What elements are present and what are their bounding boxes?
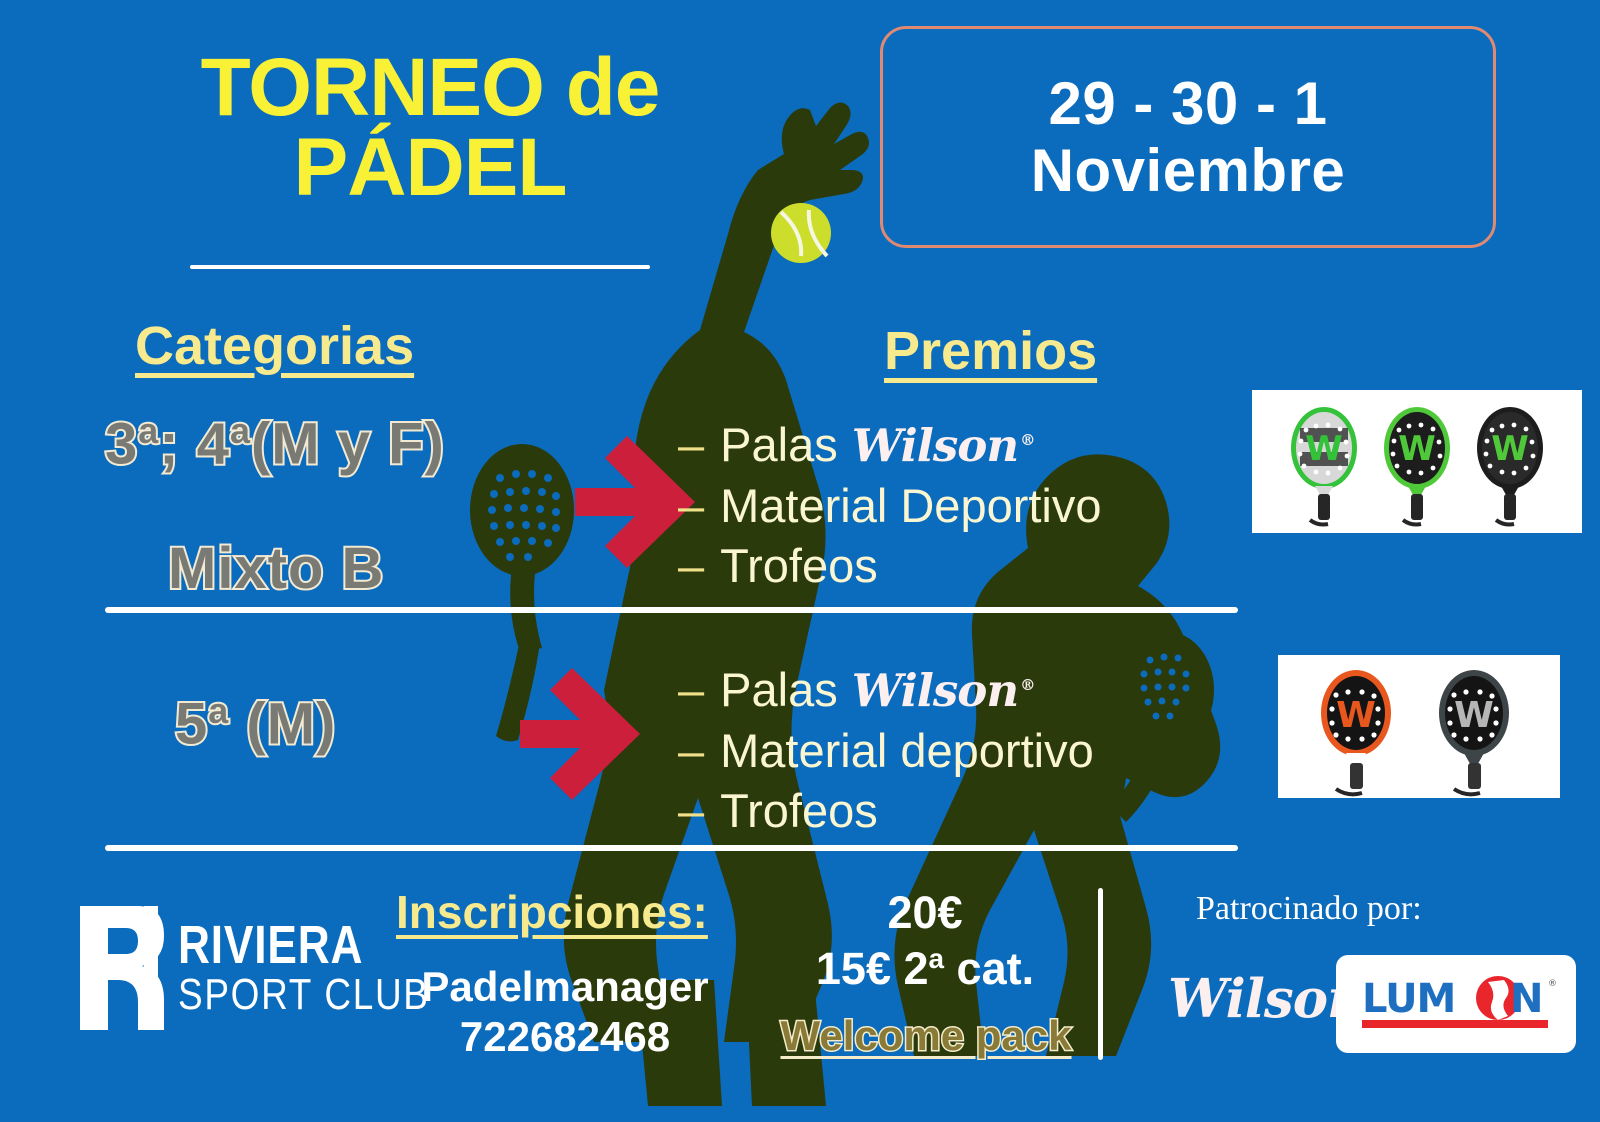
tennis-ball-icon bbox=[771, 203, 831, 263]
title-underline-rule bbox=[190, 265, 650, 269]
date-month: Noviembre bbox=[1031, 137, 1346, 204]
cat-5-tail: (M) bbox=[229, 691, 336, 756]
svg-text:W: W bbox=[1305, 429, 1343, 469]
cat-3-ordinal: a bbox=[138, 410, 159, 451]
prize-label: Trofeos bbox=[720, 781, 878, 842]
poster-canvas: TORNEO de PÁDEL 29 - 30 - 1 Noviembre Ca… bbox=[0, 0, 1600, 1122]
cat-3-4-tail: (M y F) bbox=[251, 411, 445, 476]
price-ordinal: a bbox=[929, 943, 945, 974]
prize-row: – Trofeos bbox=[678, 536, 1102, 597]
sponsors-heading: Patrocinado por: bbox=[1196, 890, 1422, 928]
category-item-5: 5a (M) bbox=[175, 690, 336, 757]
bullet-dash: – bbox=[678, 660, 704, 721]
prize-row: – Material Deportivo bbox=[678, 476, 1102, 537]
price-block: 20€ 15€ 2a cat. bbox=[760, 885, 1090, 998]
wilson-text: Wilson bbox=[852, 664, 1018, 717]
price-second-category: 15€ 2a cat. bbox=[760, 941, 1090, 997]
svg-text:W: W bbox=[1398, 429, 1436, 469]
date-text: 29 - 30 - 1 Noviembre bbox=[1031, 70, 1346, 204]
divider-lower bbox=[105, 845, 1238, 851]
title-line-2: PÁDEL bbox=[120, 128, 740, 208]
svg-text:®: ® bbox=[1548, 979, 1557, 989]
svg-text:LUM: LUM bbox=[1362, 976, 1455, 1022]
riviera-subtitle: SPORT CLUB bbox=[178, 975, 430, 1015]
cat-5-ordinal: a bbox=[208, 690, 229, 731]
bullet-dash: – bbox=[678, 781, 704, 842]
cat-sep: ; 4 bbox=[159, 411, 230, 476]
svg-text:N: N bbox=[1510, 976, 1543, 1022]
date-box: 29 - 30 - 1 Noviembre bbox=[880, 26, 1496, 248]
prize-row: – Palas Wilson® bbox=[678, 415, 1102, 476]
prizes-block-1: – Palas Wilson® – Material Deportivo – T… bbox=[678, 415, 1102, 597]
riviera-name: RIVIERA bbox=[178, 921, 424, 971]
prizes-heading: Premios bbox=[884, 320, 1097, 382]
svg-text:W: W bbox=[1454, 695, 1494, 736]
rackets-photo-top: W W W bbox=[1252, 390, 1582, 533]
registered-mark: ® bbox=[1020, 431, 1034, 449]
sponsor-lumon-card: LUM N ® bbox=[1336, 955, 1576, 1053]
title-line-1: TORNEO de bbox=[120, 48, 740, 128]
prize-row: – Material deportivo bbox=[678, 721, 1094, 782]
bullet-dash: – bbox=[678, 536, 704, 597]
registration-phone: 722682468 bbox=[415, 1012, 715, 1062]
registered-mark: ® bbox=[1020, 676, 1034, 694]
category-item-3-4: 3a; 4a(M y F) bbox=[105, 410, 445, 477]
divider-vertical bbox=[1098, 888, 1103, 1060]
prize-row: – Palas Wilson® bbox=[678, 660, 1094, 721]
divider-upper bbox=[105, 607, 1238, 613]
prize-row: – Trofeos bbox=[678, 781, 1094, 842]
svg-text:W: W bbox=[1491, 429, 1529, 469]
prize-label: Trofeos bbox=[720, 536, 878, 597]
prize-label: Material Deportivo bbox=[720, 476, 1101, 537]
bullet-dash: – bbox=[678, 476, 704, 537]
price-second-suffix: cat. bbox=[944, 943, 1034, 994]
cat-3-num: 3 bbox=[105, 411, 138, 476]
price-second-amount: 15€ 2 bbox=[816, 943, 929, 994]
category-item-mixto-b: Mixto B bbox=[168, 535, 384, 602]
registration-heading: Inscripciones: bbox=[396, 885, 708, 939]
welcome-pack-label: Welcome pack bbox=[766, 1012, 1086, 1060]
svg-text:W: W bbox=[1336, 695, 1376, 736]
registration-details: Padelmanager 722682468 bbox=[415, 962, 715, 1061]
cat-5-num: 5 bbox=[175, 691, 208, 756]
riviera-r-mark-icon bbox=[72, 898, 164, 1038]
poster-title: TORNEO de PÁDEL bbox=[120, 48, 740, 207]
lumon-logo-icon: LUM N ® bbox=[1348, 968, 1564, 1040]
price-standard: 20€ bbox=[760, 885, 1090, 941]
bullet-dash: – bbox=[678, 415, 704, 476]
cat-4-ordinal: a bbox=[230, 410, 251, 451]
prize-label: Material deportivo bbox=[720, 721, 1094, 782]
prize-label: Palas bbox=[720, 660, 838, 721]
wilson-wordmark: Wilson® bbox=[852, 417, 1035, 475]
wilson-wordmark: Wilson® bbox=[852, 662, 1035, 720]
prize-label: Palas bbox=[720, 415, 838, 476]
prizes-block-2: – Palas Wilson® – Material deportivo – T… bbox=[678, 660, 1094, 842]
rackets-photo-bottom: W W bbox=[1278, 655, 1560, 798]
categories-heading: Categorias bbox=[135, 315, 414, 377]
arrow-right-icon bbox=[520, 436, 695, 800]
bullet-dash: – bbox=[678, 721, 704, 782]
date-days: 29 - 30 - 1 bbox=[1031, 70, 1346, 137]
wilson-text: Wilson bbox=[852, 419, 1018, 472]
registration-platform: Padelmanager bbox=[415, 962, 715, 1012]
